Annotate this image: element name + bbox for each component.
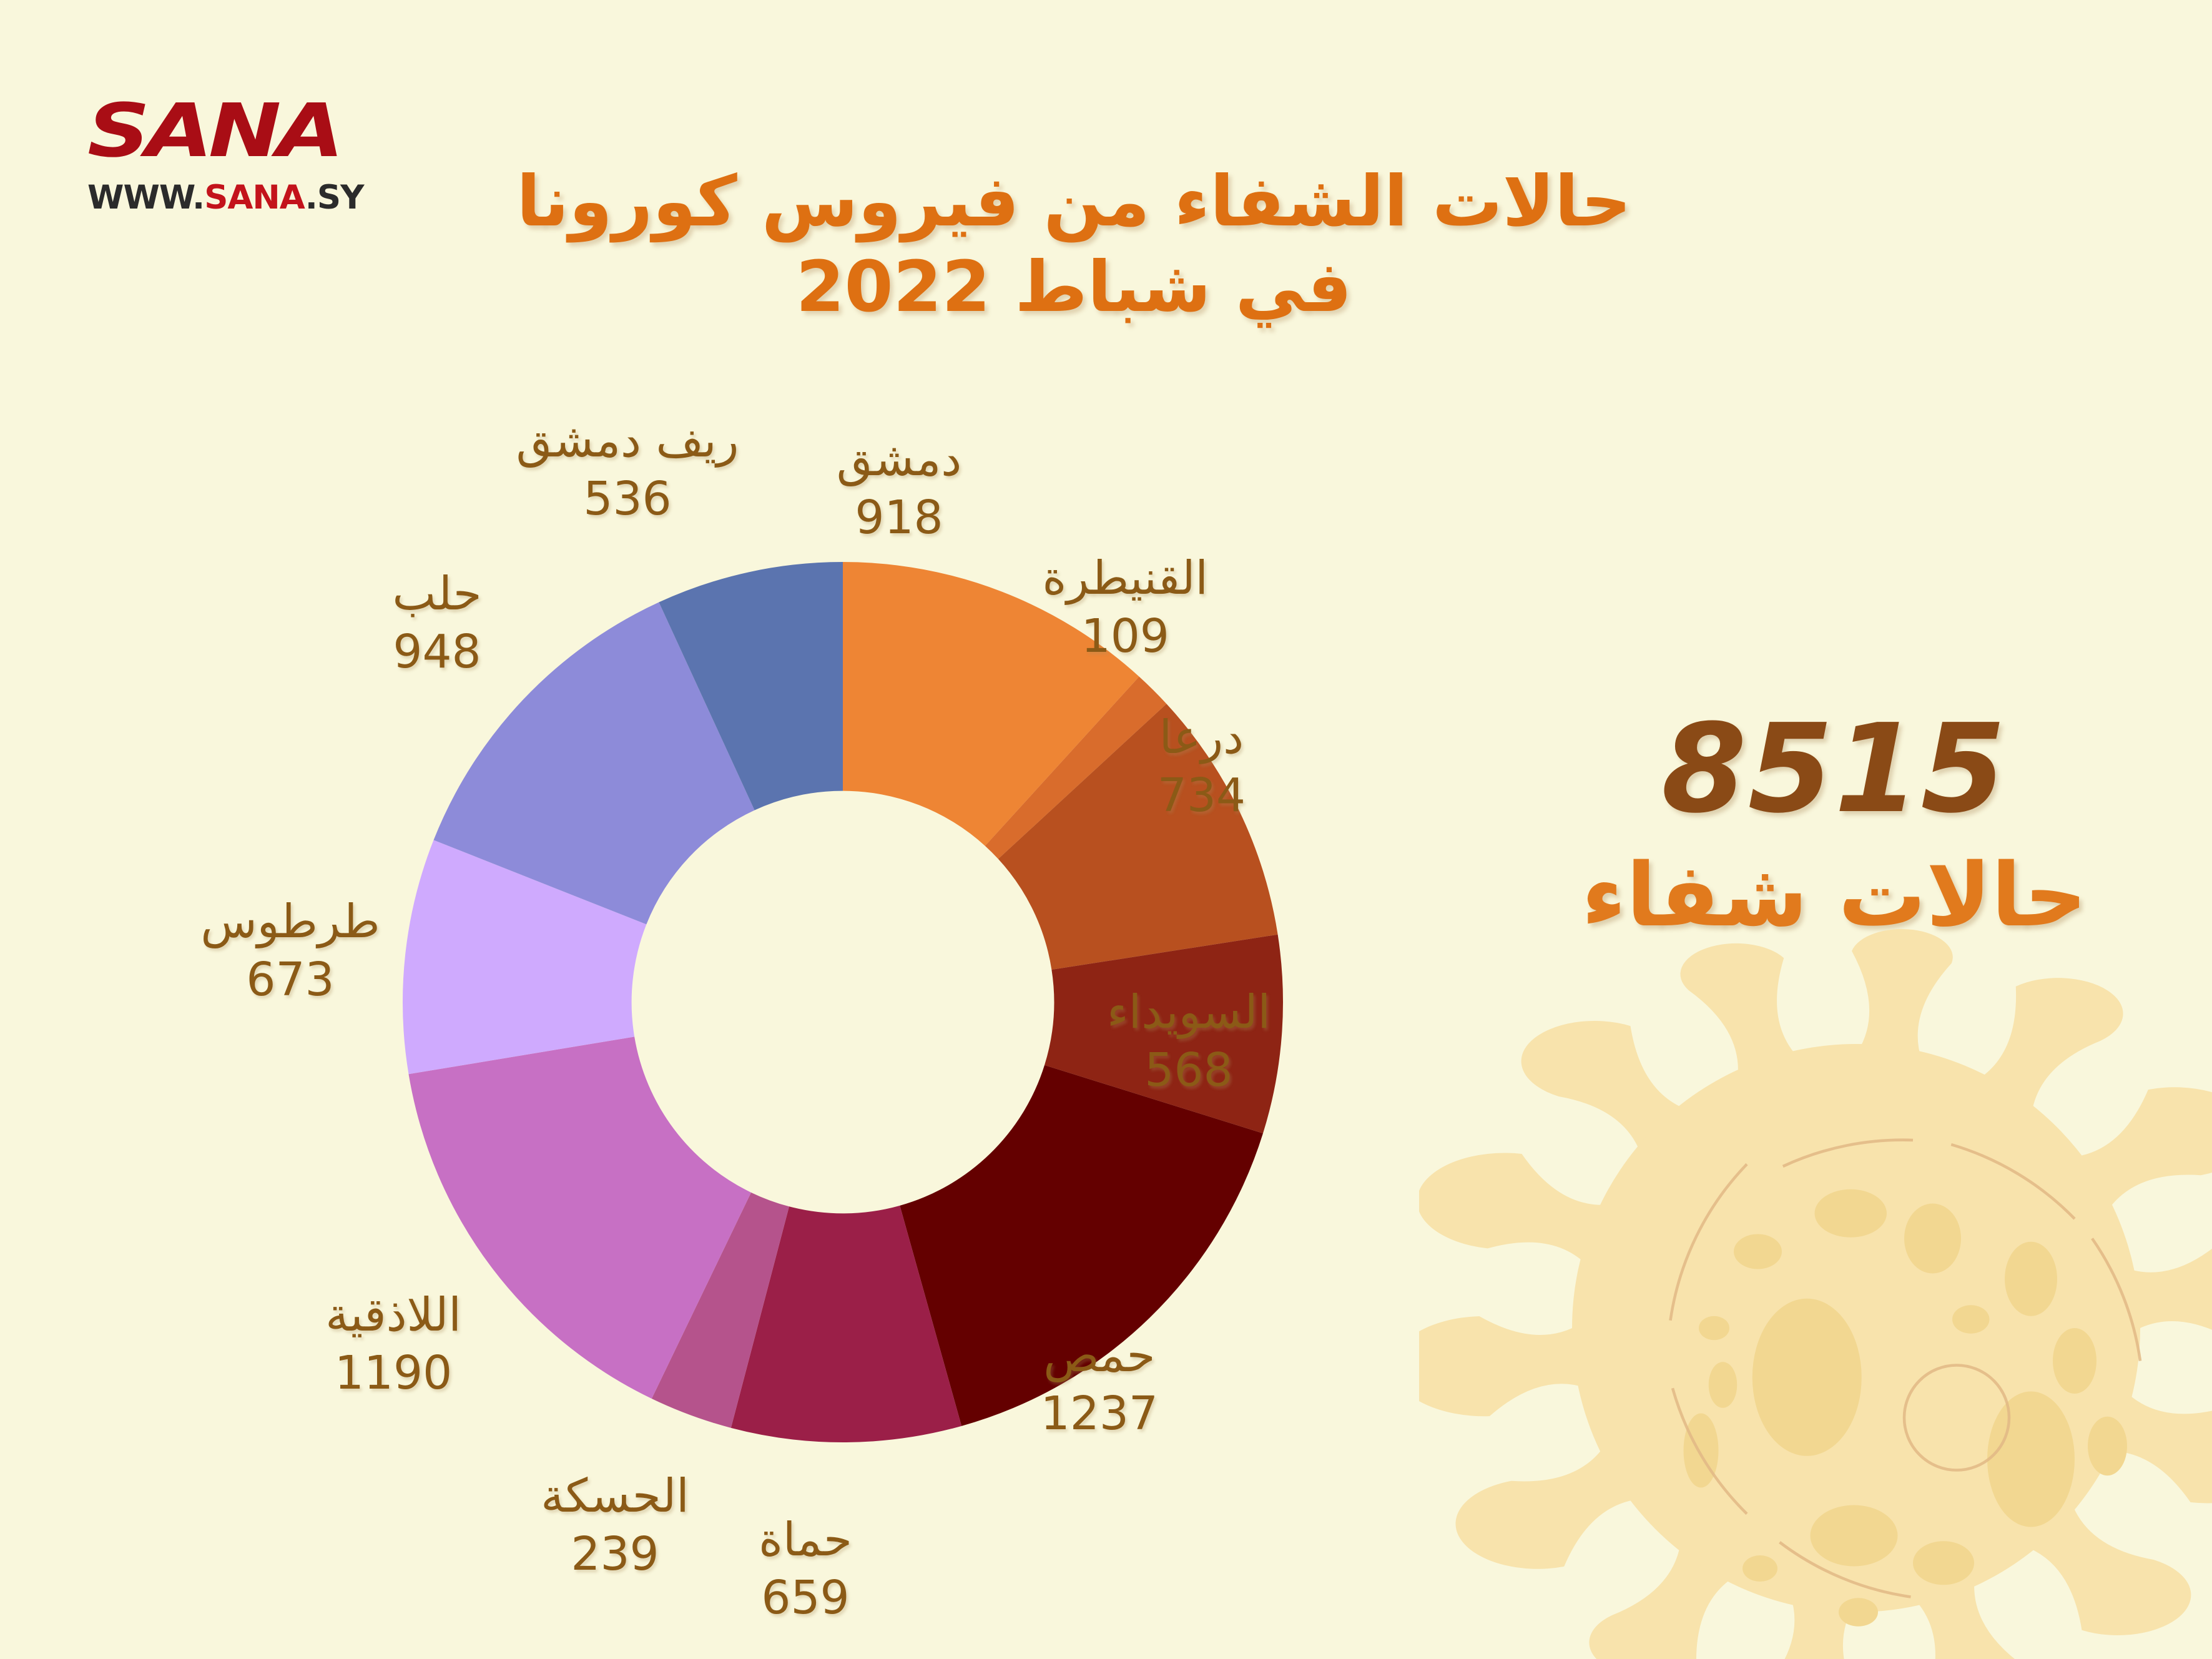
- virus-spike-0: [1852, 929, 1953, 1061]
- virus-spike-3: [2125, 1240, 2212, 1340]
- sana-website-url: WWW.SANA.SY: [87, 181, 362, 214]
- slice-label-1: دمشق918: [837, 431, 961, 547]
- slice-label-value: 109: [1042, 608, 1208, 666]
- slice-label-8: اللاذقية1190: [325, 1286, 461, 1402]
- slice-label-name: دمشق: [837, 433, 961, 486]
- slice-label-value: 1190: [325, 1344, 461, 1402]
- slice-label-3: درعا734: [1158, 709, 1246, 825]
- virus-body: [1572, 1044, 2140, 1612]
- virus-spike-9: [1455, 1443, 1640, 1568]
- slice-label-name: درعا: [1159, 711, 1244, 764]
- virus-blobs: [1684, 1189, 2128, 1627]
- slice-label-value: 659: [759, 1569, 852, 1627]
- virus-spike-10: [1419, 1316, 1588, 1416]
- slice-label-name: ريف دمشق: [516, 414, 739, 468]
- slice-label-name: حلب: [393, 567, 482, 621]
- url-prefix: WWW.: [87, 179, 204, 217]
- slice-label-name: القنيطرة: [1042, 551, 1208, 605]
- virus-spike-2: [2072, 1087, 2212, 1213]
- slice-label-name: اللاذقية: [325, 1288, 461, 1342]
- url-brand: SANA: [204, 179, 305, 217]
- slice-label-value: 239: [541, 1525, 689, 1583]
- slice-label-2: القنيطرة109: [1042, 549, 1208, 666]
- slice-label-value: 673: [200, 951, 380, 1009]
- slice-label-value: 948: [393, 623, 482, 681]
- slice-label-7: الحسكة239: [541, 1467, 689, 1583]
- title-line-1: حالات الشفاء من فيروس كورونا: [375, 159, 1773, 245]
- total-recoveries-number: 8515: [1553, 706, 2115, 834]
- slice-label-10: حلب948: [393, 565, 482, 681]
- virus-spike-4: [2102, 1390, 2212, 1503]
- slice-label-value: 568: [1107, 1041, 1271, 1100]
- title-line-2: في شباط 2022: [375, 245, 1773, 330]
- virus-spike-12: [1521, 1021, 1689, 1156]
- coronavirus-illustration: [1419, 891, 2212, 1659]
- slice-label-name: حماة: [759, 1513, 852, 1567]
- slice-label-value: 918: [837, 489, 961, 547]
- total-recoveries-label: حالات شفاء: [1553, 845, 2115, 946]
- virus-spike-5: [2024, 1500, 2191, 1635]
- virus-spike-11: [1419, 1153, 1610, 1266]
- virus-spike-13: [1680, 943, 1799, 1080]
- slice-label-name: حمص: [1043, 1329, 1155, 1382]
- coronavirus-icon: [1419, 891, 2212, 1659]
- sana-logo: SANA WWW.SANA.SY: [87, 94, 362, 214]
- virus-outlines: [1671, 1140, 2141, 1597]
- slice-label-0: ريف دمشق536: [516, 412, 739, 528]
- virus-spike-6: [1913, 1577, 2032, 1659]
- virus-spike-1: [1976, 978, 2123, 1116]
- total-recoveries-block: 8515 حالات شفاء: [1553, 706, 2115, 946]
- sana-wordmark: SANA: [87, 94, 411, 167]
- url-suffix: .SY: [305, 179, 364, 217]
- slice-label-name: السويداء: [1107, 985, 1271, 1039]
- virus-spike-8: [1589, 1540, 1736, 1659]
- slice-label-4: السويداء568: [1107, 983, 1271, 1100]
- slice-label-9: طرطوس673: [200, 893, 380, 1009]
- slice-label-5: حمص1237: [1041, 1327, 1158, 1443]
- slice-label-value: 1237: [1041, 1385, 1158, 1443]
- slice-label-name: طرطوس: [200, 895, 380, 948]
- slice-label-6: حماة659: [759, 1511, 852, 1627]
- page-title: حالات الشفاء من فيروس كورونا في شباط 202…: [375, 159, 1773, 330]
- virus-spike-7: [1759, 1595, 1861, 1659]
- slice-label-value: 734: [1158, 767, 1246, 825]
- slice-label-name: الحسكة: [541, 1469, 689, 1523]
- slice-label-value: 536: [516, 470, 739, 528]
